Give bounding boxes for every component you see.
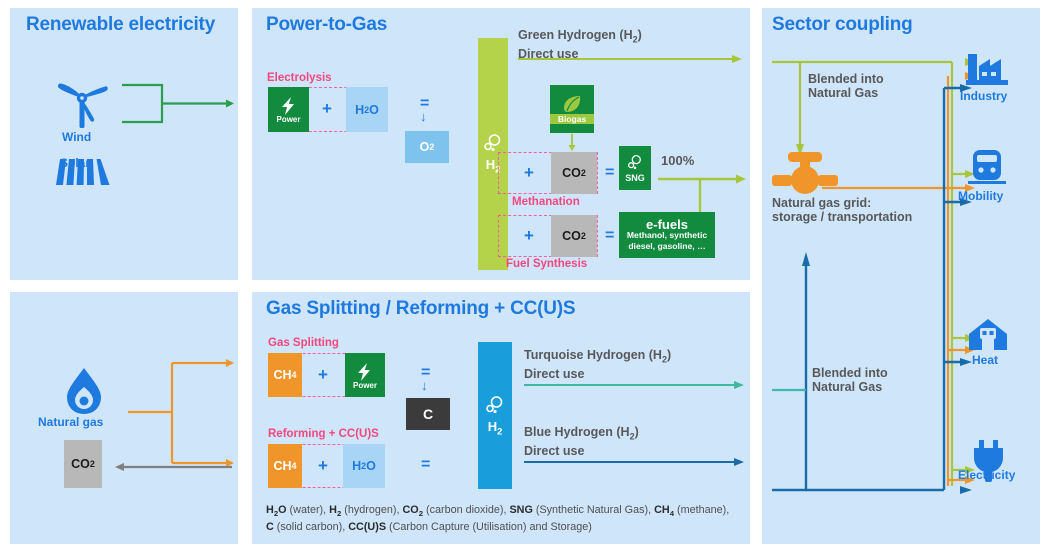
methanation-plus: +	[524, 163, 534, 183]
carbon-chip: C	[406, 398, 450, 430]
blended-top-label: Blended into Natural Gas	[808, 72, 884, 100]
sector-label-electricity: Electricity	[958, 468, 1015, 482]
blue-bar-label: H2	[488, 419, 503, 437]
factory-icon	[966, 52, 1008, 86]
biogas-chip: Biogas	[550, 85, 594, 133]
natural-gas-grid-label: Natural gas grid: storage / transportati…	[772, 196, 912, 224]
blended-bottom-label: Blended into Natural Gas	[812, 366, 888, 394]
efuels-title: e-fuels	[646, 219, 688, 230]
green-h2-line1: Green Hydrogen (H2)	[518, 28, 642, 42]
turquoise-hydrogen-arrow	[524, 378, 746, 392]
reforming-plus: +	[318, 456, 328, 476]
gas-splitting-arrow-down: ↓	[421, 378, 428, 393]
panel-renewable-electricity	[10, 8, 238, 280]
h2o-chip-reforming: H2O	[343, 444, 385, 488]
co2-chip-methanation: CO2	[551, 152, 597, 194]
o2-chip: O2	[405, 131, 449, 163]
gas-valve-icon	[772, 150, 838, 198]
sng-chip: SNG	[619, 146, 651, 190]
ch4-chip-reforming: CH4	[268, 444, 302, 488]
turquoise-line1: Turquoise Hydrogen (H2)	[524, 348, 671, 362]
train-icon	[966, 148, 1008, 186]
blend-top-line2: Natural Gas	[808, 86, 878, 100]
renewable-panel-title: Renewable electricity	[26, 14, 215, 36]
fuel-synthesis-label: Fuel Synthesis	[506, 258, 587, 270]
electrolysis-plus: +	[322, 99, 332, 119]
footnote-line1: H2O (water), H2 (hydrogen), CO2 (carbon …	[266, 504, 677, 516]
h2o-chip-electrolysis: H2O	[346, 87, 388, 132]
reforming-equals: =	[421, 456, 430, 474]
wind-turbine-icon	[52, 78, 112, 128]
gas-splitting-title: Gas Splitting / Reforming + CC(U)S	[266, 298, 575, 320]
solar-label: Solar	[60, 156, 90, 170]
blend-top-line1: Blended into	[808, 72, 884, 86]
reforming-process-label: Reforming + CC(U)S	[268, 428, 379, 440]
grid-line2: storage / transportation	[772, 210, 912, 224]
blue-hydrogen-bar: H2	[478, 342, 512, 489]
hydrogen-molecule-icon-blue	[484, 395, 506, 417]
gas-splitting-process-label: Gas Splitting	[268, 337, 339, 349]
blue-hydrogen-output-label: Blue Hydrogen (H2) Direct use	[524, 425, 639, 458]
blend-bottom-line2: Natural Gas	[812, 380, 882, 394]
electrolysis-arrow-down: ↓	[420, 109, 427, 124]
renewable-output-connector	[110, 80, 240, 125]
fuel-synthesis-plus: +	[524, 226, 534, 246]
biogas-chip-label: Biogas	[550, 114, 594, 124]
methanation-equals: =	[605, 164, 614, 182]
methanation-label: Methanation	[512, 196, 580, 208]
gas-splitting-plus: +	[318, 365, 328, 385]
grid-line1: Natural gas grid:	[772, 196, 871, 210]
sector-label-industry: Industry	[960, 89, 1007, 103]
blend-bottom-line1: Blended into	[812, 366, 888, 380]
power-to-gas-title: Power-to-Gas	[266, 14, 387, 36]
co2-return-arrow	[112, 460, 238, 474]
electrolysis-label: Electrolysis	[267, 72, 332, 84]
efuels-sub2: diesel, gasoline, …	[628, 241, 705, 252]
biogas-down-arrow	[566, 134, 578, 152]
gas-flame-drop-icon	[62, 365, 106, 417]
blue-hydrogen-arrow	[524, 455, 746, 469]
co2-chip-fuel-synthesis: CO2	[551, 215, 597, 257]
sng-chip-label: SNG	[625, 173, 645, 183]
ch4-chip-splitting: CH4	[268, 353, 302, 397]
power-chip-electrolysis: Power	[268, 87, 309, 132]
natural-gas-label: Natural gas	[38, 415, 103, 429]
turquoise-hydrogen-output-label: Turquoise Hydrogen (H2) Direct use	[524, 348, 671, 381]
sng-percent-label: 100%	[661, 154, 694, 168]
sector-label-heat: Heat	[972, 353, 998, 367]
fuel-synthesis-equals: =	[605, 227, 614, 245]
efuels-sub1: Methanol, synthetic	[627, 230, 707, 241]
green-hydrogen-arrow	[518, 52, 744, 66]
blue-h2-line1: Blue Hydrogen (H2)	[524, 425, 639, 439]
house-icon	[968, 318, 1008, 352]
wind-label: Wind	[62, 130, 91, 144]
co2-chip-natural-gas-panel: CO2	[64, 440, 102, 488]
natural-gas-split-connector	[120, 355, 240, 465]
efuels-box: e-fuels Methanol, synthetic diesel, gaso…	[619, 212, 715, 258]
abbreviation-footnote: H2O (water), H2 (hydrogen), CO2 (carbon …	[266, 504, 736, 534]
sector-label-mobility: Mobility	[958, 189, 1003, 203]
power-chip-splitting: Power	[345, 353, 385, 397]
